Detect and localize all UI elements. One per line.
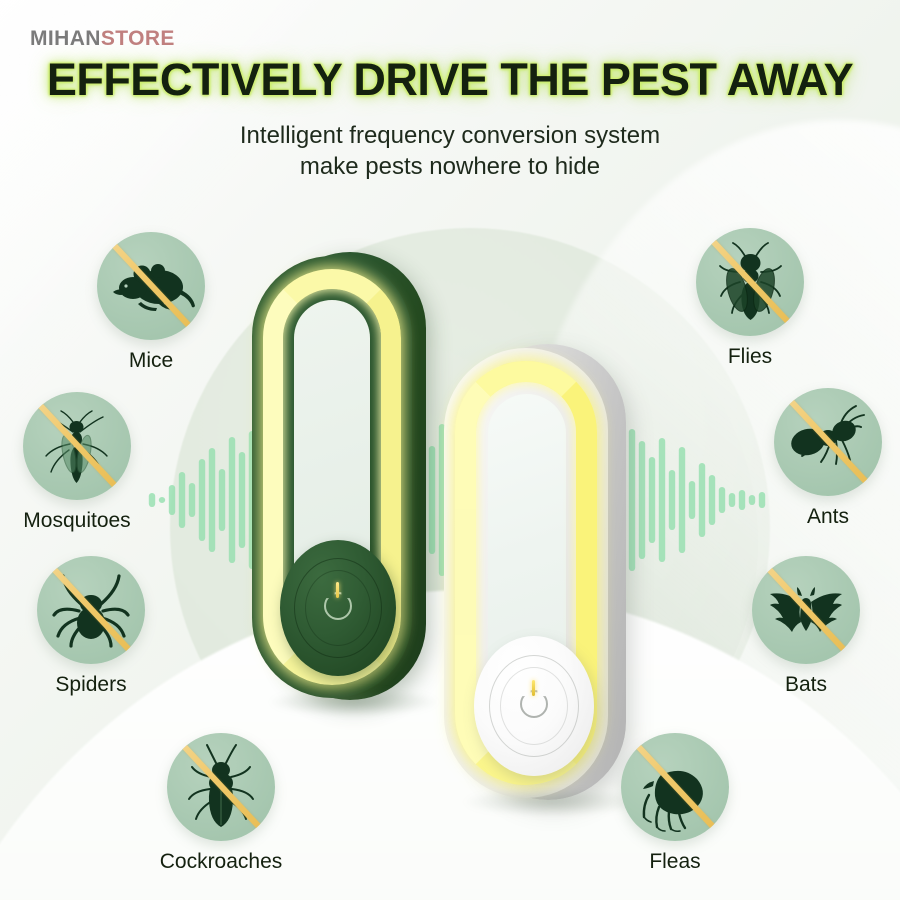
page-subtitle: Intelligent frequency conversion system … <box>0 120 900 182</box>
waveform-bar <box>199 459 205 541</box>
pest-label: Mosquitoes <box>0 509 162 533</box>
device-white-power-knob[interactable] <box>474 636 594 776</box>
pest-label: Cockroaches <box>136 850 306 874</box>
brand-name-primary: MIHAN <box>30 27 101 50</box>
ant-icon <box>774 388 882 496</box>
pest-label: Fleas <box>590 850 760 874</box>
power-indicator-led <box>336 582 339 598</box>
waveform-bar <box>649 457 655 543</box>
subtitle-line-1: Intelligent frequency conversion system <box>0 120 900 151</box>
waveform-bar <box>209 448 215 552</box>
waveform-bar <box>239 452 245 548</box>
brand-name-secondary: STORE <box>101 27 175 50</box>
pest-label: Spiders <box>6 673 176 697</box>
waveform-bar <box>219 469 225 531</box>
waveform-bar <box>659 438 665 562</box>
mosquito-icon <box>23 392 131 500</box>
mouse-icon <box>97 232 205 340</box>
waveform-bar <box>689 481 695 519</box>
pest-badge-bats: Bats <box>721 556 891 697</box>
pest-badge-ants: Ants <box>743 388 900 529</box>
waveform-bar <box>189 483 195 517</box>
waveform-bar <box>179 472 185 528</box>
waveform-bar <box>699 463 705 537</box>
power-indicator-led <box>532 680 535 696</box>
page-title: EFFECTIVELY DRIVE THE PEST AWAY <box>0 54 900 106</box>
brand-logo: MIHANSTORE <box>30 27 175 51</box>
waveform-bar <box>679 447 685 553</box>
cockroach-icon <box>167 733 275 841</box>
ultrasonic-repeller-green <box>252 252 430 712</box>
bat-icon <box>752 556 860 664</box>
fly-icon <box>696 228 804 336</box>
flea-icon <box>621 733 729 841</box>
pest-badge-fleas: Fleas <box>590 733 760 874</box>
waveform-bar <box>639 441 645 559</box>
waveform-bar <box>719 487 725 513</box>
waveform-bar <box>229 437 235 563</box>
subtitle-line-2: make pests nowhere to hide <box>0 151 900 182</box>
device-green-shadow <box>270 688 438 716</box>
pest-badge-mosquitoes: Mosquitoes <box>0 392 162 533</box>
pest-badge-mice: Mice <box>66 232 236 373</box>
device-green-power-knob[interactable] <box>280 540 396 676</box>
pest-label: Mice <box>66 349 236 373</box>
waveform-bar <box>169 485 175 515</box>
product-infographic: MIHANSTORE EFFECTIVELY DRIVE THE PEST AW… <box>0 0 900 900</box>
waveform-bar <box>709 475 715 525</box>
pest-badge-flies: Flies <box>665 228 835 369</box>
spider-icon <box>37 556 145 664</box>
pest-label: Flies <box>665 345 835 369</box>
pest-badge-cockroaches: Cockroaches <box>136 733 306 874</box>
waveform-bar <box>669 470 675 530</box>
pest-label: Bats <box>721 673 891 697</box>
pest-label: Ants <box>743 505 900 529</box>
pest-badge-spiders: Spiders <box>6 556 176 697</box>
waveform-bar <box>729 493 735 507</box>
